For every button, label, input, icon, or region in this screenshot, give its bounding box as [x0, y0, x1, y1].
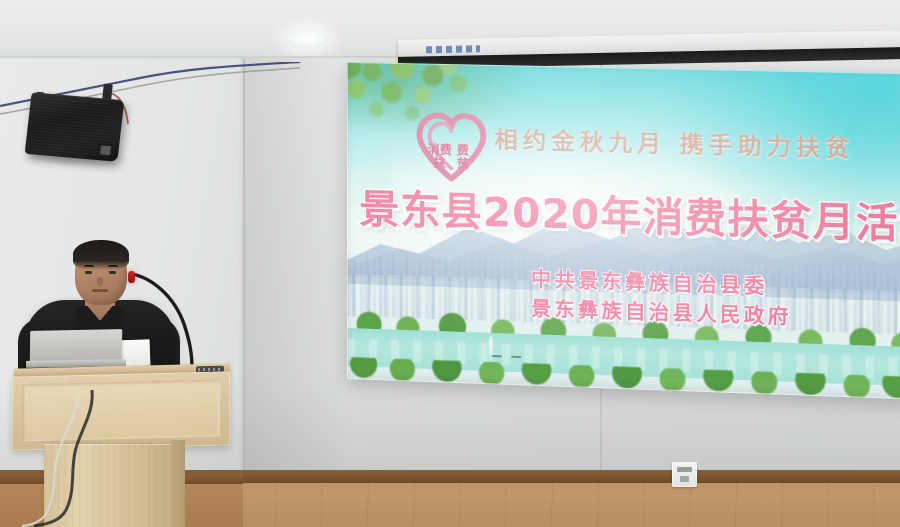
logo-text-line1b: 费: [457, 142, 469, 157]
wall-speaker: [25, 92, 125, 162]
banner-fountain: [489, 336, 493, 362]
speaker-nose: [97, 277, 103, 286]
logo-text-line2: 扶: [434, 155, 447, 170]
podium-side-panel: [171, 440, 185, 527]
ceiling-downlight: [286, 31, 328, 47]
logo-text-line2b: 贫: [457, 155, 470, 170]
conference-presentation-photo: 消费 费 扶 贫 相约金秋九月 携手助力扶贫 景东县2020年消费扶贫月活动启动…: [0, 0, 900, 527]
logo-text-line1: 消费: [427, 142, 452, 158]
speaker-mouth: [92, 289, 108, 292]
poverty-alleviation-heart-logo: 消费 费 扶 贫: [415, 105, 488, 190]
eye-right: [109, 271, 116, 274]
projection-screen: 消费 费 扶 贫 相约金秋九月 携手助力扶贫 景东县2020年消费扶贫月活动启动…: [347, 62, 900, 400]
banner-boat: [511, 356, 521, 358]
banner-organizations: 中共景东彝族自治县委 景东彝族自治县人民政府: [531, 264, 792, 331]
banner-boat: [492, 355, 502, 357]
speaker-badge: [100, 145, 111, 155]
projected-banner: 消费 费 扶 贫 相约金秋九月 携手助力扶贫 景东县2020年消费扶贫月活动启动…: [347, 62, 900, 400]
housing-label: [426, 45, 480, 53]
microphone-head: [128, 271, 135, 283]
wall-outlet: [672, 462, 697, 487]
eye-left: [85, 271, 92, 274]
floor-cable: [20, 390, 130, 527]
